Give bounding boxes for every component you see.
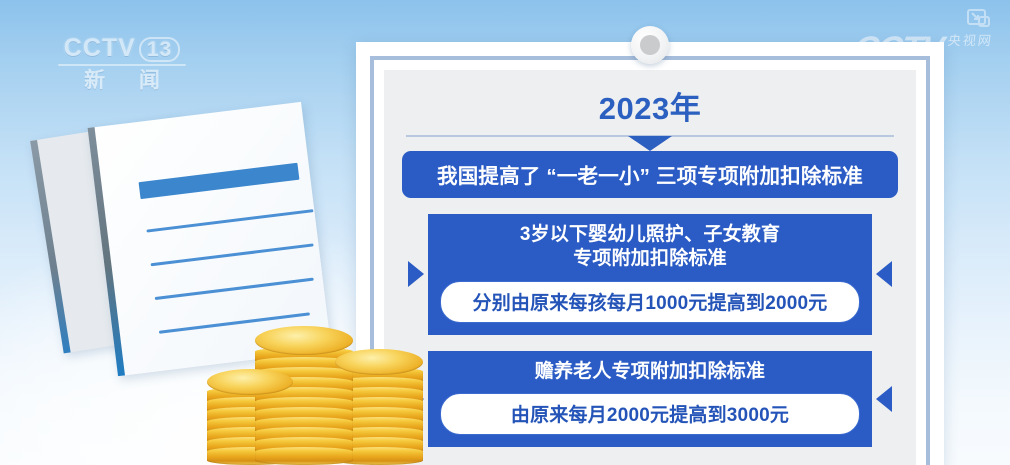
watermark-suffix: 央视网 — [947, 33, 994, 48]
coin-top-face — [207, 369, 293, 395]
panel-content: 2023年 我国提高了 “一老一小” 三项专项附加扣除标准 3岁以下婴幼儿照护、… — [384, 70, 916, 465]
coin-stacks-illustration — [195, 330, 410, 465]
page-title: 2023年 — [402, 92, 898, 126]
coin-top-face — [335, 349, 423, 375]
info-block-title-line: 赡养老人专项附加扣除标准 — [440, 360, 860, 384]
info-block-body: 3岁以下婴幼儿照护、子女教育 专项附加扣除标准 分别由原来每孩每月1000元提高… — [428, 214, 872, 335]
coin — [255, 447, 353, 465]
arrow-right-icon — [408, 261, 424, 287]
document-heading-bar — [139, 163, 300, 199]
document-text-line — [146, 209, 313, 232]
document-spine — [30, 140, 71, 353]
restore-window-icon[interactable] — [966, 8, 992, 30]
channel-brand-text: CCTV — [64, 34, 136, 62]
channel-logo-subtitle: 新 闻 — [52, 69, 192, 92]
panel-pin-knob — [631, 26, 669, 64]
chevron-down-icon — [628, 136, 672, 151]
info-block: 3岁以下婴幼儿照护、子女教育 专项附加扣除标准 分别由原来每孩每月1000元提高… — [402, 214, 898, 335]
channel-logo: CCTV13 新 闻 — [52, 36, 192, 92]
arrow-left-icon — [876, 386, 892, 412]
broadcast-screen: CCTV13 新 闻 CCTV央视网 — [0, 0, 1010, 465]
title-divider — [406, 135, 894, 137]
channel-logo-rule — [58, 64, 186, 66]
arrow-left-icon — [876, 261, 892, 287]
document-text-line — [155, 278, 314, 300]
panel-frame: 2023年 我国提高了 “一老一小” 三项专项附加扣除标准 3岁以下婴幼儿照护、… — [370, 56, 930, 465]
document-text-line — [151, 243, 314, 266]
channel-number-badge: 13 — [139, 37, 180, 62]
headline-banner: 我国提高了 “一老一小” 三项专项附加扣除标准 — [402, 151, 898, 198]
info-block-value: 分别由原来每孩每月1000元提高到2000元 — [440, 281, 860, 323]
info-block-value: 由原来每月2000元提高到3000元 — [440, 393, 860, 435]
info-block-title: 赡养老人专项附加扣除标准 — [440, 360, 860, 384]
channel-logo-brand-row: CCTV13 — [52, 36, 192, 62]
coin-top-face — [255, 326, 353, 355]
info-block: 赡养老人专项附加扣除标准 由原来每月2000元提高到3000元 — [402, 351, 898, 447]
info-block-body: 赡养老人专项附加扣除标准 由原来每月2000元提高到3000元 — [428, 351, 872, 447]
info-block-title-line: 专项附加扣除标准 — [440, 247, 860, 271]
info-block-title-line: 3岁以下婴幼儿照护、子女教育 — [440, 223, 860, 247]
info-block-title: 3岁以下婴幼儿照护、子女教育 专项附加扣除标准 — [440, 223, 860, 272]
info-panel: 2023年 我国提高了 “一老一小” 三项专项附加扣除标准 3岁以下婴幼儿照护、… — [356, 42, 944, 465]
